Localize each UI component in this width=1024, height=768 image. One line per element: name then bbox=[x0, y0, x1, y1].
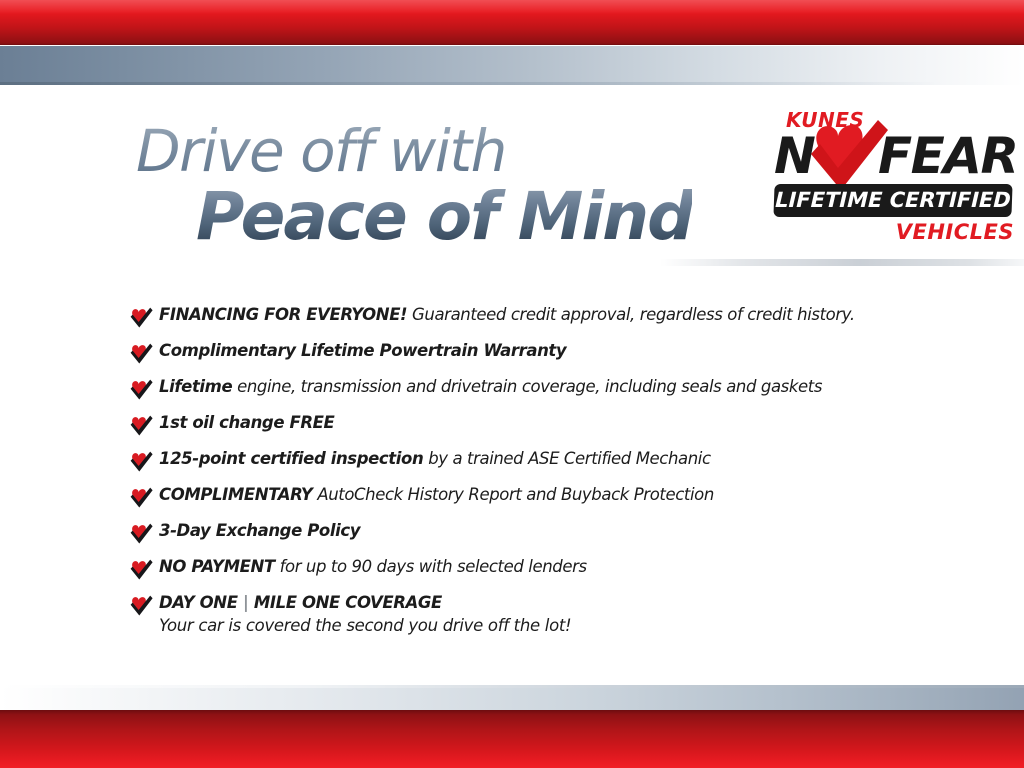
list-item-bold: COMPLIMENTARY bbox=[159, 485, 312, 504]
list-item: Lifetime engine, transmission and drivet… bbox=[130, 377, 930, 400]
list-item-bold: DAY ONE bbox=[159, 593, 238, 612]
benefits-list: FINANCING FOR EVERYONE! Guaranteed credi… bbox=[130, 305, 930, 649]
list-item: DAY ONE | MILE ONE COVERAGEYour car is c… bbox=[130, 593, 930, 636]
list-item-text: Complimentary Lifetime Powertrain Warran… bbox=[159, 341, 566, 360]
list-item-rest: Guaranteed credit approval, regardless o… bbox=[407, 305, 855, 324]
heart-check-icon bbox=[130, 595, 153, 616]
headline-line-1: Drive off with bbox=[136, 122, 692, 180]
heart-check-icon bbox=[130, 487, 153, 508]
list-item-text: 1st oil change FREE bbox=[159, 413, 334, 432]
list-item: 3-Day Exchange Policy bbox=[130, 521, 930, 544]
list-item-bold: Lifetime bbox=[159, 377, 232, 396]
list-item-bold: NO PAYMENT bbox=[159, 557, 275, 576]
list-item-text: COMPLIMENTARY AutoCheck History Report a… bbox=[159, 485, 714, 504]
list-item-rest: engine, transmission and drivetrain cove… bbox=[232, 377, 822, 396]
logo-word-fear: FEAR bbox=[878, 128, 1018, 184]
list-item-bold: 1st oil change FREE bbox=[159, 413, 334, 432]
headline: Drive off with Peace of Mind bbox=[136, 122, 692, 250]
headline-line-2: Peace of Mind bbox=[196, 184, 692, 250]
heart-check-icon bbox=[130, 523, 153, 544]
list-item-text: NO PAYMENT for up to 90 days with select… bbox=[159, 557, 587, 576]
heart-check-icon bbox=[130, 559, 153, 580]
kunes-no-fear-logo: KUNES N FEAR LIFETIME CERTIFIED VEHICLES bbox=[772, 108, 1016, 250]
list-item: Complimentary Lifetime Powertrain Warran… bbox=[130, 341, 930, 364]
list-item: COMPLIMENTARY AutoCheck History Report a… bbox=[130, 485, 930, 508]
logo-word-vehicles: VEHICLES bbox=[896, 220, 1014, 244]
list-item-bold: 3-Day Exchange Policy bbox=[159, 521, 360, 540]
list-item: NO PAYMENT for up to 90 days with select… bbox=[130, 557, 930, 580]
list-item-bold: FINANCING FOR EVERYONE! bbox=[159, 305, 407, 324]
list-item: 1st oil change FREE bbox=[130, 413, 930, 436]
top-red-band-shine bbox=[0, 0, 1024, 14]
list-item: 125-point certified inspection by a trai… bbox=[130, 449, 930, 472]
list-item-separator: | bbox=[238, 593, 254, 612]
logo-no-fear-wordmark: N FEAR bbox=[772, 128, 1016, 184]
logo-lifetime-certified-text: LIFETIME CERTIFIED bbox=[773, 184, 1012, 217]
list-item-text: 3-Day Exchange Policy bbox=[159, 521, 360, 540]
heart-check-icon bbox=[130, 379, 153, 400]
list-item-rest: AutoCheck History Report and Buyback Pro… bbox=[312, 485, 713, 504]
top-slate-band bbox=[0, 46, 1024, 85]
bottom-red-band bbox=[0, 710, 1024, 768]
logo-lifetime-certified-bar: LIFETIME CERTIFIED bbox=[773, 184, 1012, 217]
list-item-bold-2: MILE ONE COVERAGE bbox=[254, 593, 442, 612]
heart-check-icon bbox=[130, 343, 153, 364]
list-item-text: 125-point certified inspection by a trai… bbox=[159, 449, 711, 468]
heart-check-icon bbox=[130, 415, 153, 436]
list-item-bold: 125-point certified inspection bbox=[159, 449, 423, 468]
headline-divider bbox=[660, 259, 1024, 266]
list-item: FINANCING FOR EVERYONE! Guaranteed credi… bbox=[130, 305, 930, 328]
list-item-text: FINANCING FOR EVERYONE! Guaranteed credi… bbox=[159, 305, 855, 324]
list-item-bold: Complimentary Lifetime Powertrain Warran… bbox=[159, 341, 566, 360]
list-item-text: DAY ONE | MILE ONE COVERAGEYour car is c… bbox=[159, 593, 571, 636]
list-item-text: Lifetime engine, transmission and drivet… bbox=[159, 377, 822, 396]
bottom-slate-band bbox=[0, 688, 1024, 710]
list-item-rest: by a trained ASE Certified Mechanic bbox=[423, 449, 710, 468]
list-item-subtext: Your car is covered the second you drive… bbox=[159, 616, 571, 635]
top-red-band bbox=[0, 0, 1024, 45]
list-item-rest: for up to 90 days with selected lenders bbox=[275, 557, 587, 576]
poster-canvas: Drive off with Peace of Mind KUNES N FEA… bbox=[0, 0, 1024, 768]
top-slate-band-edge bbox=[0, 82, 1024, 85]
heart-check-icon bbox=[130, 307, 153, 328]
heart-check-icon bbox=[130, 451, 153, 472]
